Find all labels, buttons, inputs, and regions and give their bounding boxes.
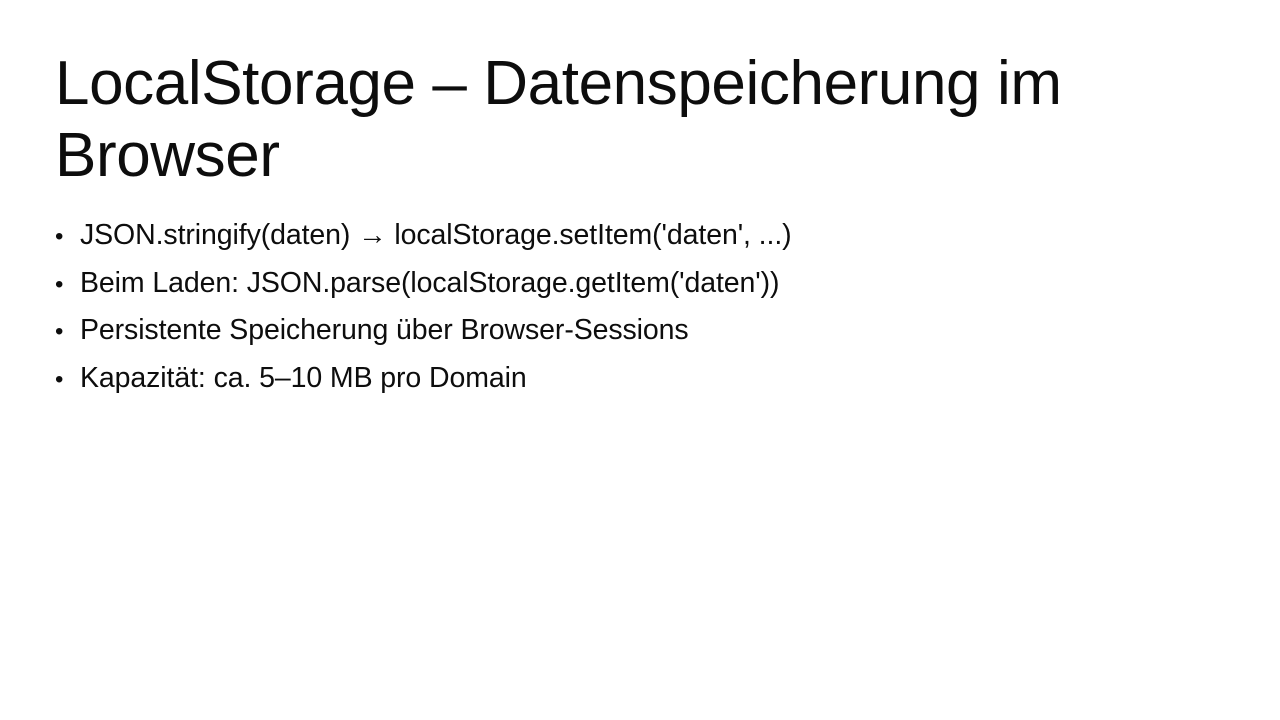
list-item-label: Kapazität: ca. 5–10 MB pro Domain bbox=[80, 355, 527, 403]
list-item-label: Beim Laden: JSON.parse(localStorage.getI… bbox=[80, 260, 779, 308]
list-item: • JSON.stringify(daten) → localStorage.s… bbox=[55, 212, 1175, 260]
page-title: LocalStorage – Datenspeicherung im Brows… bbox=[55, 48, 1145, 192]
bullet-point-icon: • bbox=[55, 308, 80, 356]
list-item-label: Persistente Speicherung über Browser-Ses… bbox=[80, 307, 689, 355]
list-item-label: JSON.stringify(daten) → localStorage.set… bbox=[80, 212, 792, 260]
bullet-point-icon: • bbox=[55, 213, 80, 261]
presentation-slide: LocalStorage – Datenspeicherung im Brows… bbox=[0, 0, 1280, 720]
list-item: • Kapazität: ca. 5–10 MB pro Domain bbox=[55, 355, 1175, 403]
bullet-point-icon: • bbox=[55, 356, 80, 404]
bullet-point-icon: • bbox=[55, 261, 80, 309]
list-item: • Persistente Speicherung über Browser-S… bbox=[55, 307, 1175, 355]
bullet-list: • JSON.stringify(daten) → localStorage.s… bbox=[55, 212, 1175, 402]
list-item: • Beim Laden: JSON.parse(localStorage.ge… bbox=[55, 260, 1175, 308]
